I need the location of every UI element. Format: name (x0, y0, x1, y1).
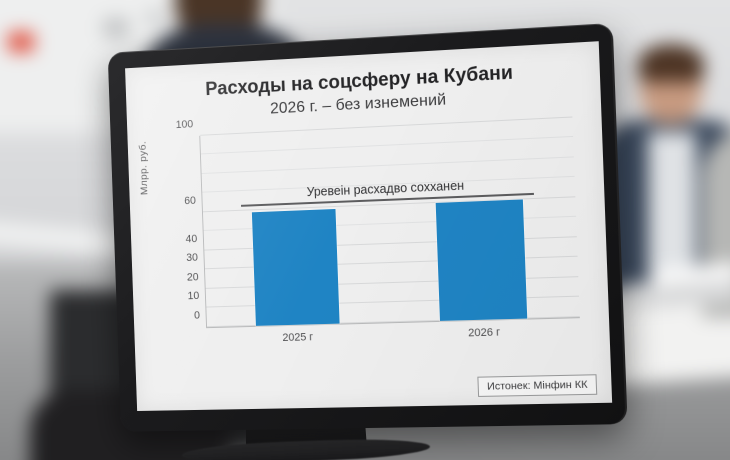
gridline-minor (202, 156, 574, 174)
y-axis-tick: 60 (184, 194, 203, 207)
monitor-bezel: Расходы на соцсферу на Кубани 2026 г. – … (108, 23, 628, 432)
sticky-note-gray (103, 18, 129, 38)
y-axis-tick: 0 (194, 309, 207, 321)
gridline-minor (201, 136, 573, 154)
monitor-screen: Расходы на соцсферу на Кубани 2026 г. – … (125, 41, 612, 411)
y-axis-tick: 100 (176, 118, 200, 131)
x-axis-tick: 2026 г (468, 326, 500, 339)
person-right-a-shirt (648, 132, 696, 272)
screenshot-scene: Расходы на соцсферу на Кубани 2026 г. – … (0, 0, 730, 460)
presentation-slide: Расходы на соцсферу на Кубани 2026 г. – … (125, 41, 612, 411)
y-axis-tick: 10 (187, 290, 206, 302)
y-axis-tick: 40 (185, 233, 204, 245)
gridline (200, 116, 572, 135)
monitor: Расходы на соцсферу на Кубани 2026 г. – … (108, 23, 628, 432)
person-right-a-hair (638, 44, 704, 82)
bar[interactable] (251, 209, 339, 326)
bar[interactable] (436, 199, 528, 320)
sticky-note-gray-small (146, 10, 166, 26)
plot-area: 100604030201002025 г2026 гУревеін расхад… (199, 117, 580, 328)
source-note: Истонек: Мінфин КК (478, 374, 598, 397)
y-axis-label: Млрр. руб. (137, 141, 150, 196)
sticky-note-red (8, 32, 34, 52)
x-axis-tick: 2025 г (282, 331, 313, 344)
bar-chart: Млрр. руб. 100604030201002025 г2026 гУре… (148, 117, 587, 361)
y-axis-tick: 30 (186, 252, 205, 264)
y-axis-tick: 20 (187, 271, 206, 283)
